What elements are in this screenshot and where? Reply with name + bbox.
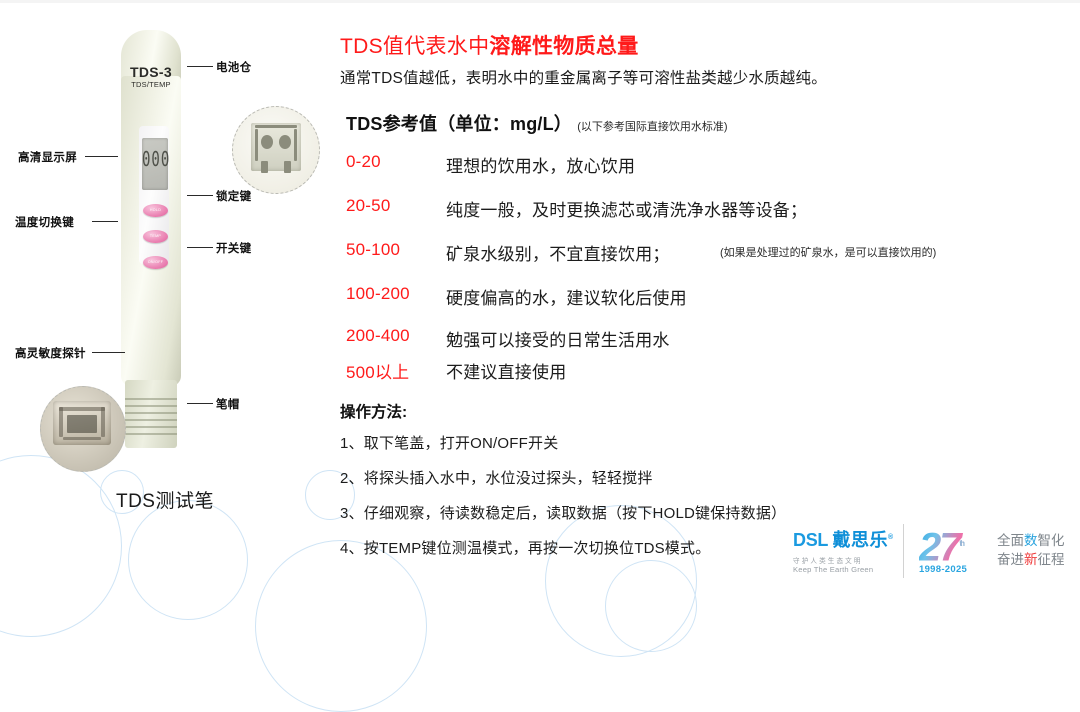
tds-row: 500以上 不建议直接使用 bbox=[346, 358, 1076, 392]
dsl-brand-cn: 戴思乐 bbox=[832, 530, 888, 550]
tds-row: 200-400 勉强可以接受的日常生活用水 bbox=[346, 326, 1076, 360]
pen-probe bbox=[125, 380, 177, 448]
operation-heading: 操作方法: bbox=[340, 400, 407, 422]
reference-heading: TDS参考值（单位：mg/L） (以下参考国际直接饮用水标准) bbox=[346, 110, 728, 136]
callout-display: 高清显示屏 bbox=[18, 149, 77, 165]
content-panel: TDS值代表水中溶解性物质总量 通常TDS值越低，表明水中的重金属离子等可溶性盐… bbox=[336, 0, 1080, 612]
anniversary-number: 27 bbox=[919, 525, 960, 569]
callout-probe: 高灵敏度探针 bbox=[15, 345, 86, 361]
product-illustration: TDS-3 TDS/TEMP 000 HOLD TEMP ON/OFF bbox=[0, 14, 330, 484]
page-subtitle: 通常TDS值越低，表明水中的重金属离子等可溶性盐类越少水质越纯。 bbox=[340, 66, 827, 88]
tds-range-value: 20-50 bbox=[346, 196, 442, 216]
slogan-line-1: 全面数智化 bbox=[997, 531, 1065, 550]
logo-divider bbox=[903, 524, 904, 578]
reference-standard-note: (以下参考国际直接饮用水标准) bbox=[577, 121, 727, 133]
tds-range-desc: 勉强可以接受的日常生活用水 bbox=[446, 326, 670, 351]
slogan-1c: 智化 bbox=[1038, 533, 1065, 548]
dsl-tagline-cn: 守护人类生态文明 bbox=[793, 555, 889, 565]
operation-step: 1、取下笔盖，打开ON/OFF开关 bbox=[340, 432, 558, 453]
callout-temp-key: 温度切换键 bbox=[15, 214, 74, 230]
tds-range-desc: 矿泉水级别，不宜直接饮用； bbox=[446, 240, 670, 265]
product-caption: TDS测试笔 bbox=[0, 486, 330, 513]
reference-heading-text: TDS参考值（单位：mg/L） bbox=[346, 114, 572, 134]
tds-range-value: 50-100 bbox=[346, 240, 442, 260]
slide-canvas: TDS-3 TDS/TEMP 000 HOLD TEMP ON/OFF bbox=[0, 0, 1080, 612]
callout-lock-key: 锁定键 bbox=[216, 188, 251, 204]
temp-button-label: TEMP bbox=[143, 230, 168, 243]
tds-pen-device: TDS-3 TDS/TEMP 000 HOLD TEMP ON/OFF bbox=[118, 30, 184, 430]
tds-range-desc: 纯度一般，及时更换滤芯或清洗净水器等设备； bbox=[446, 196, 807, 221]
leader-line bbox=[187, 195, 213, 196]
power-button[interactable]: ON/OFF bbox=[143, 256, 168, 269]
dsl-wordmark: DSL 戴思乐® bbox=[793, 526, 889, 552]
hold-button-label: HOLD bbox=[143, 204, 168, 217]
anniversary-years: 1998-2025 bbox=[919, 564, 997, 575]
leader-line bbox=[92, 221, 118, 222]
hold-button[interactable]: HOLD bbox=[143, 204, 168, 217]
tds-row: 50-100 矿泉水级别，不宜直接饮用； (如果是处理过的矿泉水，是可以直接饮用… bbox=[346, 240, 1076, 274]
callout-battery: 电池仓 bbox=[216, 59, 251, 75]
footer-logos: DSL 戴思乐® 守护人类生态文明 Keep The Earth Green 2… bbox=[793, 524, 1078, 584]
page-title-plain: TDS值代表水中 bbox=[340, 35, 489, 58]
probe-tip-inset bbox=[40, 386, 126, 472]
leader-line bbox=[85, 156, 118, 157]
anniversary-slogan: 全面数智化 奋进新征程 bbox=[997, 531, 1065, 569]
leader-line bbox=[92, 352, 125, 353]
battery-compartment-inset bbox=[232, 106, 320, 194]
registered-icon: ® bbox=[888, 534, 893, 541]
slogan-1b: 数 bbox=[1024, 533, 1038, 548]
anniversary-logo: 27th 1998-2025 bbox=[919, 524, 997, 578]
leader-line bbox=[187, 247, 213, 248]
page-title-emphasis: 溶解性物质总量 bbox=[489, 35, 638, 58]
probe-tip-icon bbox=[53, 401, 111, 445]
operation-step: 4、按TEMP键位测温模式，再按一次切换位TDS模式。 bbox=[340, 537, 710, 558]
tds-row: 100-200 硬度偏高的水，建议软化后使用 bbox=[346, 284, 1076, 318]
tds-range-value: 100-200 bbox=[346, 284, 442, 304]
slogan-1a: 全面 bbox=[997, 533, 1024, 548]
leader-line bbox=[187, 66, 213, 67]
battery-holder-icon bbox=[251, 123, 301, 171]
dsl-brand-en: DSL bbox=[793, 530, 828, 550]
dsl-tagline-en: Keep The Earth Green bbox=[793, 565, 889, 574]
page-title: TDS值代表水中溶解性物质总量 bbox=[340, 30, 639, 60]
tds-row: 0-20 理想的饮用水，放心饮用 bbox=[346, 152, 1076, 186]
slogan-2b: 新 bbox=[1024, 552, 1038, 567]
temp-button[interactable]: TEMP bbox=[143, 230, 168, 243]
tds-range-note: (如果是处理过的矿泉水，是可以直接饮用的) bbox=[720, 244, 936, 260]
power-button-label: ON/OFF bbox=[143, 256, 168, 269]
tds-range-value: 0-20 bbox=[346, 152, 442, 172]
tds-row: 20-50 纯度一般，及时更换滤芯或清洗净水器等设备； bbox=[346, 196, 1076, 230]
callout-power-key: 开关键 bbox=[216, 240, 251, 256]
tds-range-value: 500以上 bbox=[346, 358, 442, 383]
decorative-circle bbox=[128, 500, 248, 620]
dsl-logo: DSL 戴思乐® 守护人类生态文明 Keep The Earth Green bbox=[793, 526, 889, 574]
operation-step: 3、仔细观察，待读数稳定后，读取数据（按下HOLD键保持数据） bbox=[340, 502, 786, 523]
lcd-display: 000 bbox=[142, 138, 168, 190]
anniversary-number-wrap: 27th bbox=[919, 524, 997, 567]
tds-range-desc: 理想的饮用水，放心饮用 bbox=[446, 152, 635, 177]
tds-range-desc: 不建议直接使用 bbox=[446, 358, 566, 383]
device-brand-label: TDS-3 bbox=[118, 64, 184, 80]
slogan-line-2: 奋进新征程 bbox=[997, 550, 1065, 569]
device-model-label: TDS/TEMP bbox=[118, 80, 184, 89]
callout-cap: 笔帽 bbox=[216, 396, 240, 412]
lcd-reading: 000 bbox=[142, 148, 168, 171]
operation-step: 2、将探头插入水中，水位没过探头，轻轻搅拌 bbox=[340, 467, 653, 488]
tds-range-value: 200-400 bbox=[346, 326, 442, 346]
tds-range-desc: 硬度偏高的水，建议软化后使用 bbox=[446, 284, 687, 309]
slogan-2a: 奋进 bbox=[997, 552, 1024, 567]
anniversary-suffix: th bbox=[960, 539, 964, 548]
leader-line bbox=[187, 403, 213, 404]
slogan-2c: 征程 bbox=[1038, 552, 1065, 567]
